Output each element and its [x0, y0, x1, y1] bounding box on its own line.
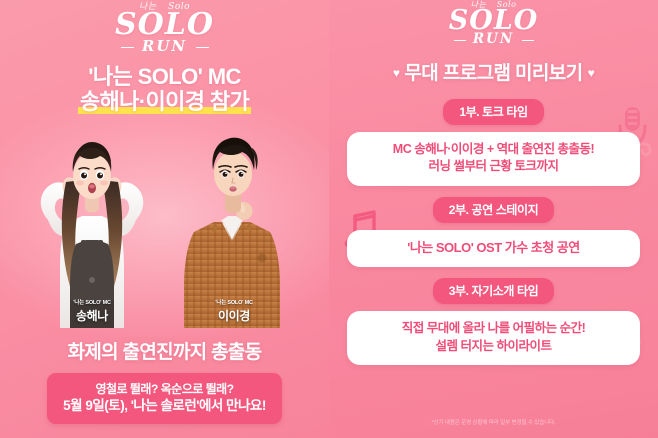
logo-run-text: RUN — [329, 32, 658, 47]
program-section-1: 1부. 토크 타임 MC 송해나·이이경 + 역대 출연진 총출동! 러닝 썰부… — [347, 99, 640, 186]
solo-run-logo-right: 나는 ᅟSolo SOLO RUN — [329, 0, 658, 47]
section-2-line-1: '나는 SOLO' OST 가수 초청 공연 — [357, 239, 630, 257]
cta-line-1: 영철로 뛸래? 옥순으로 뛸래? — [63, 381, 266, 397]
section-1-pill: 1부. 토크 타임 — [443, 99, 543, 125]
nametag-sub-label: '나는 SOLO' MC — [73, 298, 111, 306]
section-2-pill: 2부. 공연 스테이지 — [433, 197, 555, 223]
solo-run-logo-left: 나는 ᅟSolo SOLO RUN — [0, 0, 329, 55]
left-headline: '나는 SOLO' MC 송해나·이이경 참가 — [0, 64, 329, 115]
host-photos: '나는 SOLO' MC 송해나 — [0, 118, 329, 328]
disclaimer-note: *상기 내용은 운영 상황에 따라 일부 변경될 수 있습니다. — [329, 418, 658, 426]
logo-script-text: 나는 ᅟSolo — [0, 3, 329, 12]
section-3-card: 직접 무대에 올라 나를 어필하는 순간! 설렘 터지는 하이라이트 — [347, 311, 640, 365]
section-3-line-2: 설렘 터지는 하이라이트 — [357, 338, 630, 356]
left-panel: 나는 ᅟSolo SOLO RUN '나는 SOLO' MC 송해나·이이경 참… — [0, 0, 329, 438]
promo-poster: 나는 ᅟSolo SOLO RUN '나는 SOLO' MC 송해나·이이경 참… — [0, 0, 658, 438]
heart-right-icon: ♥ — [588, 66, 595, 80]
cta-line-2: 5월 9일(토), '나는 솔로런'에서 만나요! — [63, 397, 266, 415]
logo-main-text: SOLO — [0, 10, 329, 40]
section-1-card: MC 송해나·이이경 + 역대 출연진 총출동! 러닝 썰부터 근황 토크까지 — [347, 132, 640, 186]
logo-run-text: RUN — [0, 38, 329, 55]
event-cta-box[interactable]: 영철로 뛸래? 옥순으로 뛸래? 5월 9일(토), '나는 솔로런'에서 만나… — [47, 373, 282, 424]
program-preview-title: ♥무대 프로그램 미리보기♥ — [329, 58, 658, 85]
section-3-line-1: 직접 무대에 올라 나를 어필하는 순간! — [357, 320, 630, 338]
section-1-line-2: 러닝 썰부터 근황 토크까지 — [357, 158, 630, 176]
person-photo-leeyikyung: '나는 SOLO' MC 이이경 — [158, 128, 310, 328]
program-sections: 1부. 토크 타임 MC 송해나·이이경 + 역대 출연진 총출동! 러닝 썰부… — [329, 99, 658, 365]
logo-main-text: SOLO — [329, 7, 658, 34]
logo-script-text: 나는 ᅟSolo — [329, 1, 658, 9]
headline-line-2: 송해나·이이경 참가 — [80, 89, 249, 114]
nametag-songhaena: '나는 SOLO' MC 송해나 — [73, 298, 111, 324]
section-3-pill: 3부. 자기소개 타임 — [433, 278, 555, 304]
left-subheadline: 화제의 출연진까지 총출동 — [0, 337, 329, 364]
left-bottom-block: 화제의 출연진까지 총출동 영철로 뛸래? 옥순으로 뛸래? 5월 9일(토),… — [0, 337, 329, 424]
nametag-sub-label: '나는 SOLO' MC — [215, 298, 253, 306]
section-2-card: '나는 SOLO' OST 가수 초청 공연 — [347, 230, 640, 267]
nametag-name-label: 이이경 — [215, 307, 253, 324]
headline-line-1: '나는 SOLO' MC — [0, 64, 329, 90]
program-section-2: 2부. 공연 스테이지 '나는 SOLO' OST 가수 초청 공연 — [347, 197, 640, 267]
program-preview-title-text: 무대 프로그램 미리보기 — [404, 63, 582, 84]
headline-line-2-wrap: 송해나·이이경 참가 — [78, 89, 251, 115]
nametag-name-label: 송해나 — [73, 307, 111, 324]
person-photo-songhaena: '나는 SOLO' MC 송해나 — [18, 128, 166, 328]
right-panel: 나는 ᅟSolo SOLO RUN ♥무대 프로그램 미리보기♥ 1부. 토크 … — [329, 0, 658, 438]
heart-left-icon: ♥ — [393, 66, 400, 80]
section-1-line-1: MC 송해나·이이경 + 역대 출연진 총출동! — [357, 141, 630, 159]
program-section-3: 3부. 자기소개 타임 직접 무대에 올라 나를 어필하는 순간! 설렘 터지는… — [347, 278, 640, 365]
nametag-leeyikyung: '나는 SOLO' MC 이이경 — [215, 298, 253, 324]
